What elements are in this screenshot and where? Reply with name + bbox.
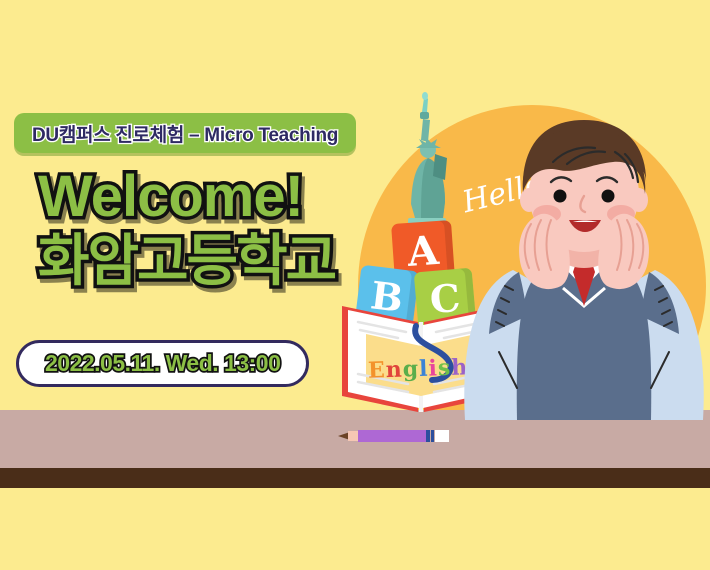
block-letter-a: A: [406, 226, 440, 275]
desk-edge: [0, 468, 710, 488]
pencil-icon: [338, 428, 454, 444]
book-word-english: English: [368, 354, 469, 383]
headline-welcome: Welcome!: [38, 166, 335, 228]
headline-group: Welcome! 화암고등학교: [38, 166, 335, 292]
student-illustration: [455, 120, 710, 440]
event-banner: DU캠퍼스 진로체험 – Micro Teaching: [14, 113, 356, 153]
poster-canvas: Hello A B C: [0, 0, 710, 570]
date-time-pill: 2022.05.11. Wed. 13:00: [16, 340, 309, 387]
english-letter-0: E: [368, 357, 387, 384]
english-letter-5: s: [437, 355, 451, 381]
english-letter-2: g: [402, 356, 419, 383]
banner-title: DU캠퍼스 진로체험 – Micro Teaching: [32, 120, 338, 147]
headline-school-name: 화암고등학교: [38, 230, 335, 292]
date-time-text: 2022.05.11. Wed. 13:00: [45, 350, 280, 377]
floor-area: [0, 488, 710, 570]
english-letter-1: n: [385, 357, 403, 384]
